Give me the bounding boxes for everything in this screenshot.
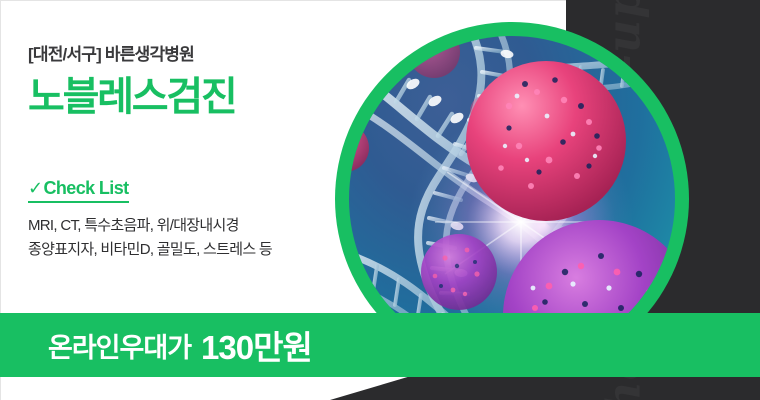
hospital-subtitle: [대전/서구] 바른생각병원	[28, 40, 328, 65]
price-banner: 온라인우대가 130만원	[0, 313, 760, 377]
checklist-block: ✓Check List MRI, CT, 특수초음파, 위/대장내시경 종양표지…	[28, 178, 338, 263]
checklist-heading: ✓Check List	[28, 178, 129, 203]
price-banner-content: 온라인우대가 130만원	[48, 313, 312, 377]
price-label: 온라인우대가	[48, 326, 191, 365]
list-item: 종양표지자, 비타민D, 골밀도, 스트레스 등	[28, 238, 338, 262]
promo-banner: health check-up	[0, 0, 760, 400]
headline-block: [대전/서구] 바른생각병원 노블레스검진	[28, 40, 328, 119]
page-title: 노블레스검진	[28, 75, 328, 119]
list-item: MRI, CT, 특수초음파, 위/대장내시경	[28, 214, 338, 238]
panel-top-border	[0, 0, 566, 1]
checklist-items: MRI, CT, 특수초음파, 위/대장내시경 종양표지자, 비타민D, 골밀도…	[28, 214, 338, 263]
check-icon: ✓	[28, 178, 42, 198]
price-amount: 130만원	[201, 321, 312, 369]
checklist-heading-label: Check List	[43, 178, 128, 198]
